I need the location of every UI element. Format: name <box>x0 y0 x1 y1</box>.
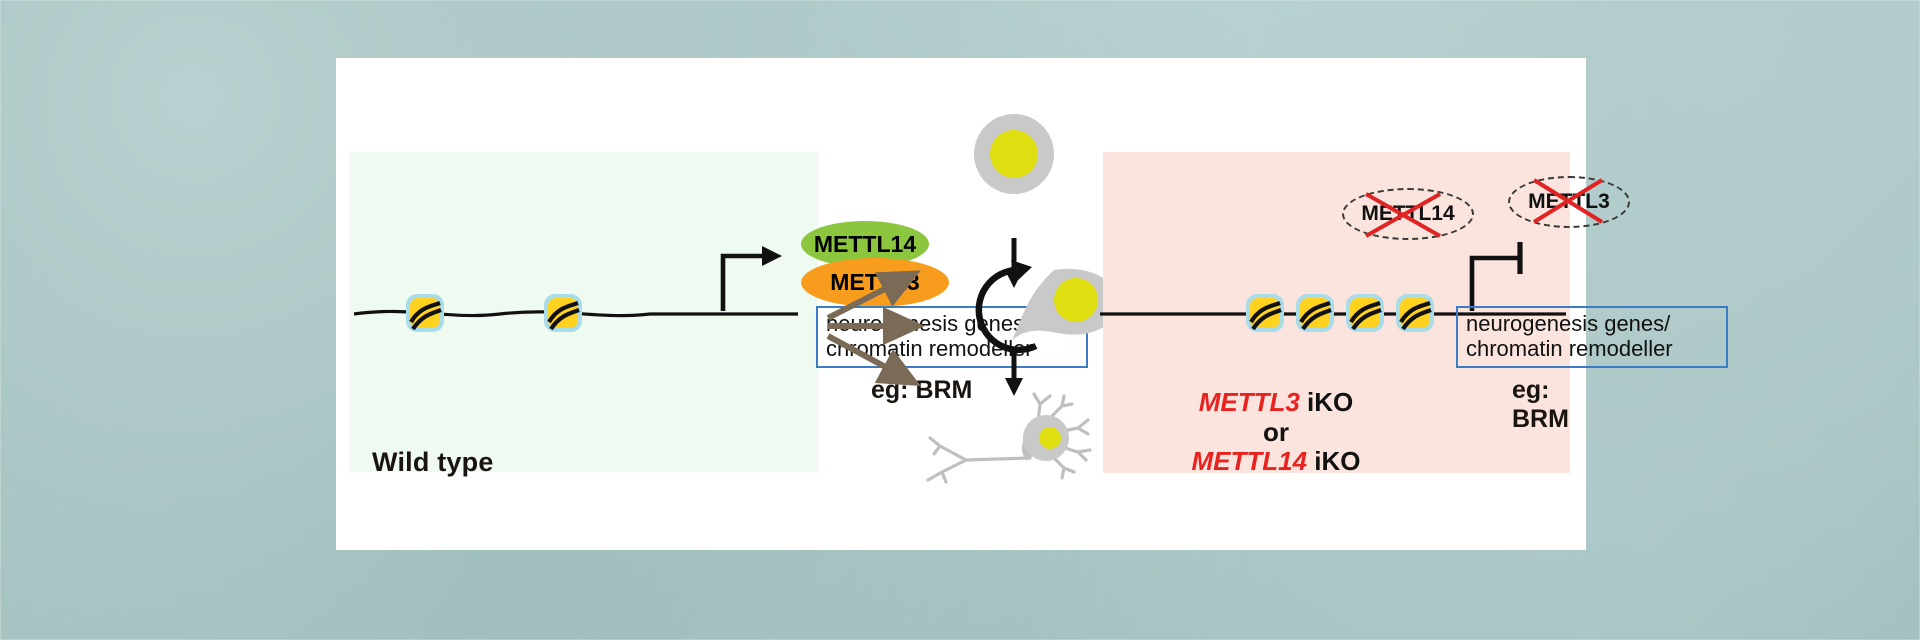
ko-suffix-1: iKO <box>1300 387 1353 417</box>
nucleosome-icon <box>406 294 444 332</box>
gene-box-ko: neurogenesis genes/ chromatin remodeller <box>1456 306 1728 368</box>
ko-line-1: METTL3 iKO <box>1111 388 1441 418</box>
wild-type-chromatin-svg <box>350 208 820 348</box>
nucleosome-icon <box>1396 294 1434 332</box>
nucleosome-icon <box>1346 294 1384 332</box>
ko-line-3: METTL14 iKO <box>1111 447 1441 477</box>
nucleosome-icon <box>1296 294 1334 332</box>
promoter-arrow-icon <box>723 246 782 311</box>
ko-gene-2: METTL14 <box>1191 446 1307 476</box>
ko-gene-1: METTL3 <box>1199 387 1300 417</box>
arrow-to-neurons <box>828 336 906 378</box>
ko-suffix-2: iKO <box>1307 446 1360 476</box>
ko-condition-caption: METTL3 iKO or METTL14 iKO <box>1111 388 1441 477</box>
figure-card: Wild type METTL14 METTL3 neuro <box>336 58 1586 550</box>
gene-box-line-1: neurogenesis genes/ <box>1466 312 1718 337</box>
wild-type-label: Wild type <box>372 447 494 478</box>
hesc-cell-icon <box>936 98 1116 218</box>
nucleosome-icon <box>1246 294 1284 332</box>
ko-line-2: or <box>1111 418 1441 448</box>
arrow-to-hescs <box>828 278 906 318</box>
repressed-promoter-icon <box>1472 242 1520 311</box>
nucleosome-icon <box>544 294 582 332</box>
gene-box-line-2: chromatin remodeller <box>1466 337 1718 362</box>
example-gene-ko: eg: BRM <box>1512 376 1586 434</box>
